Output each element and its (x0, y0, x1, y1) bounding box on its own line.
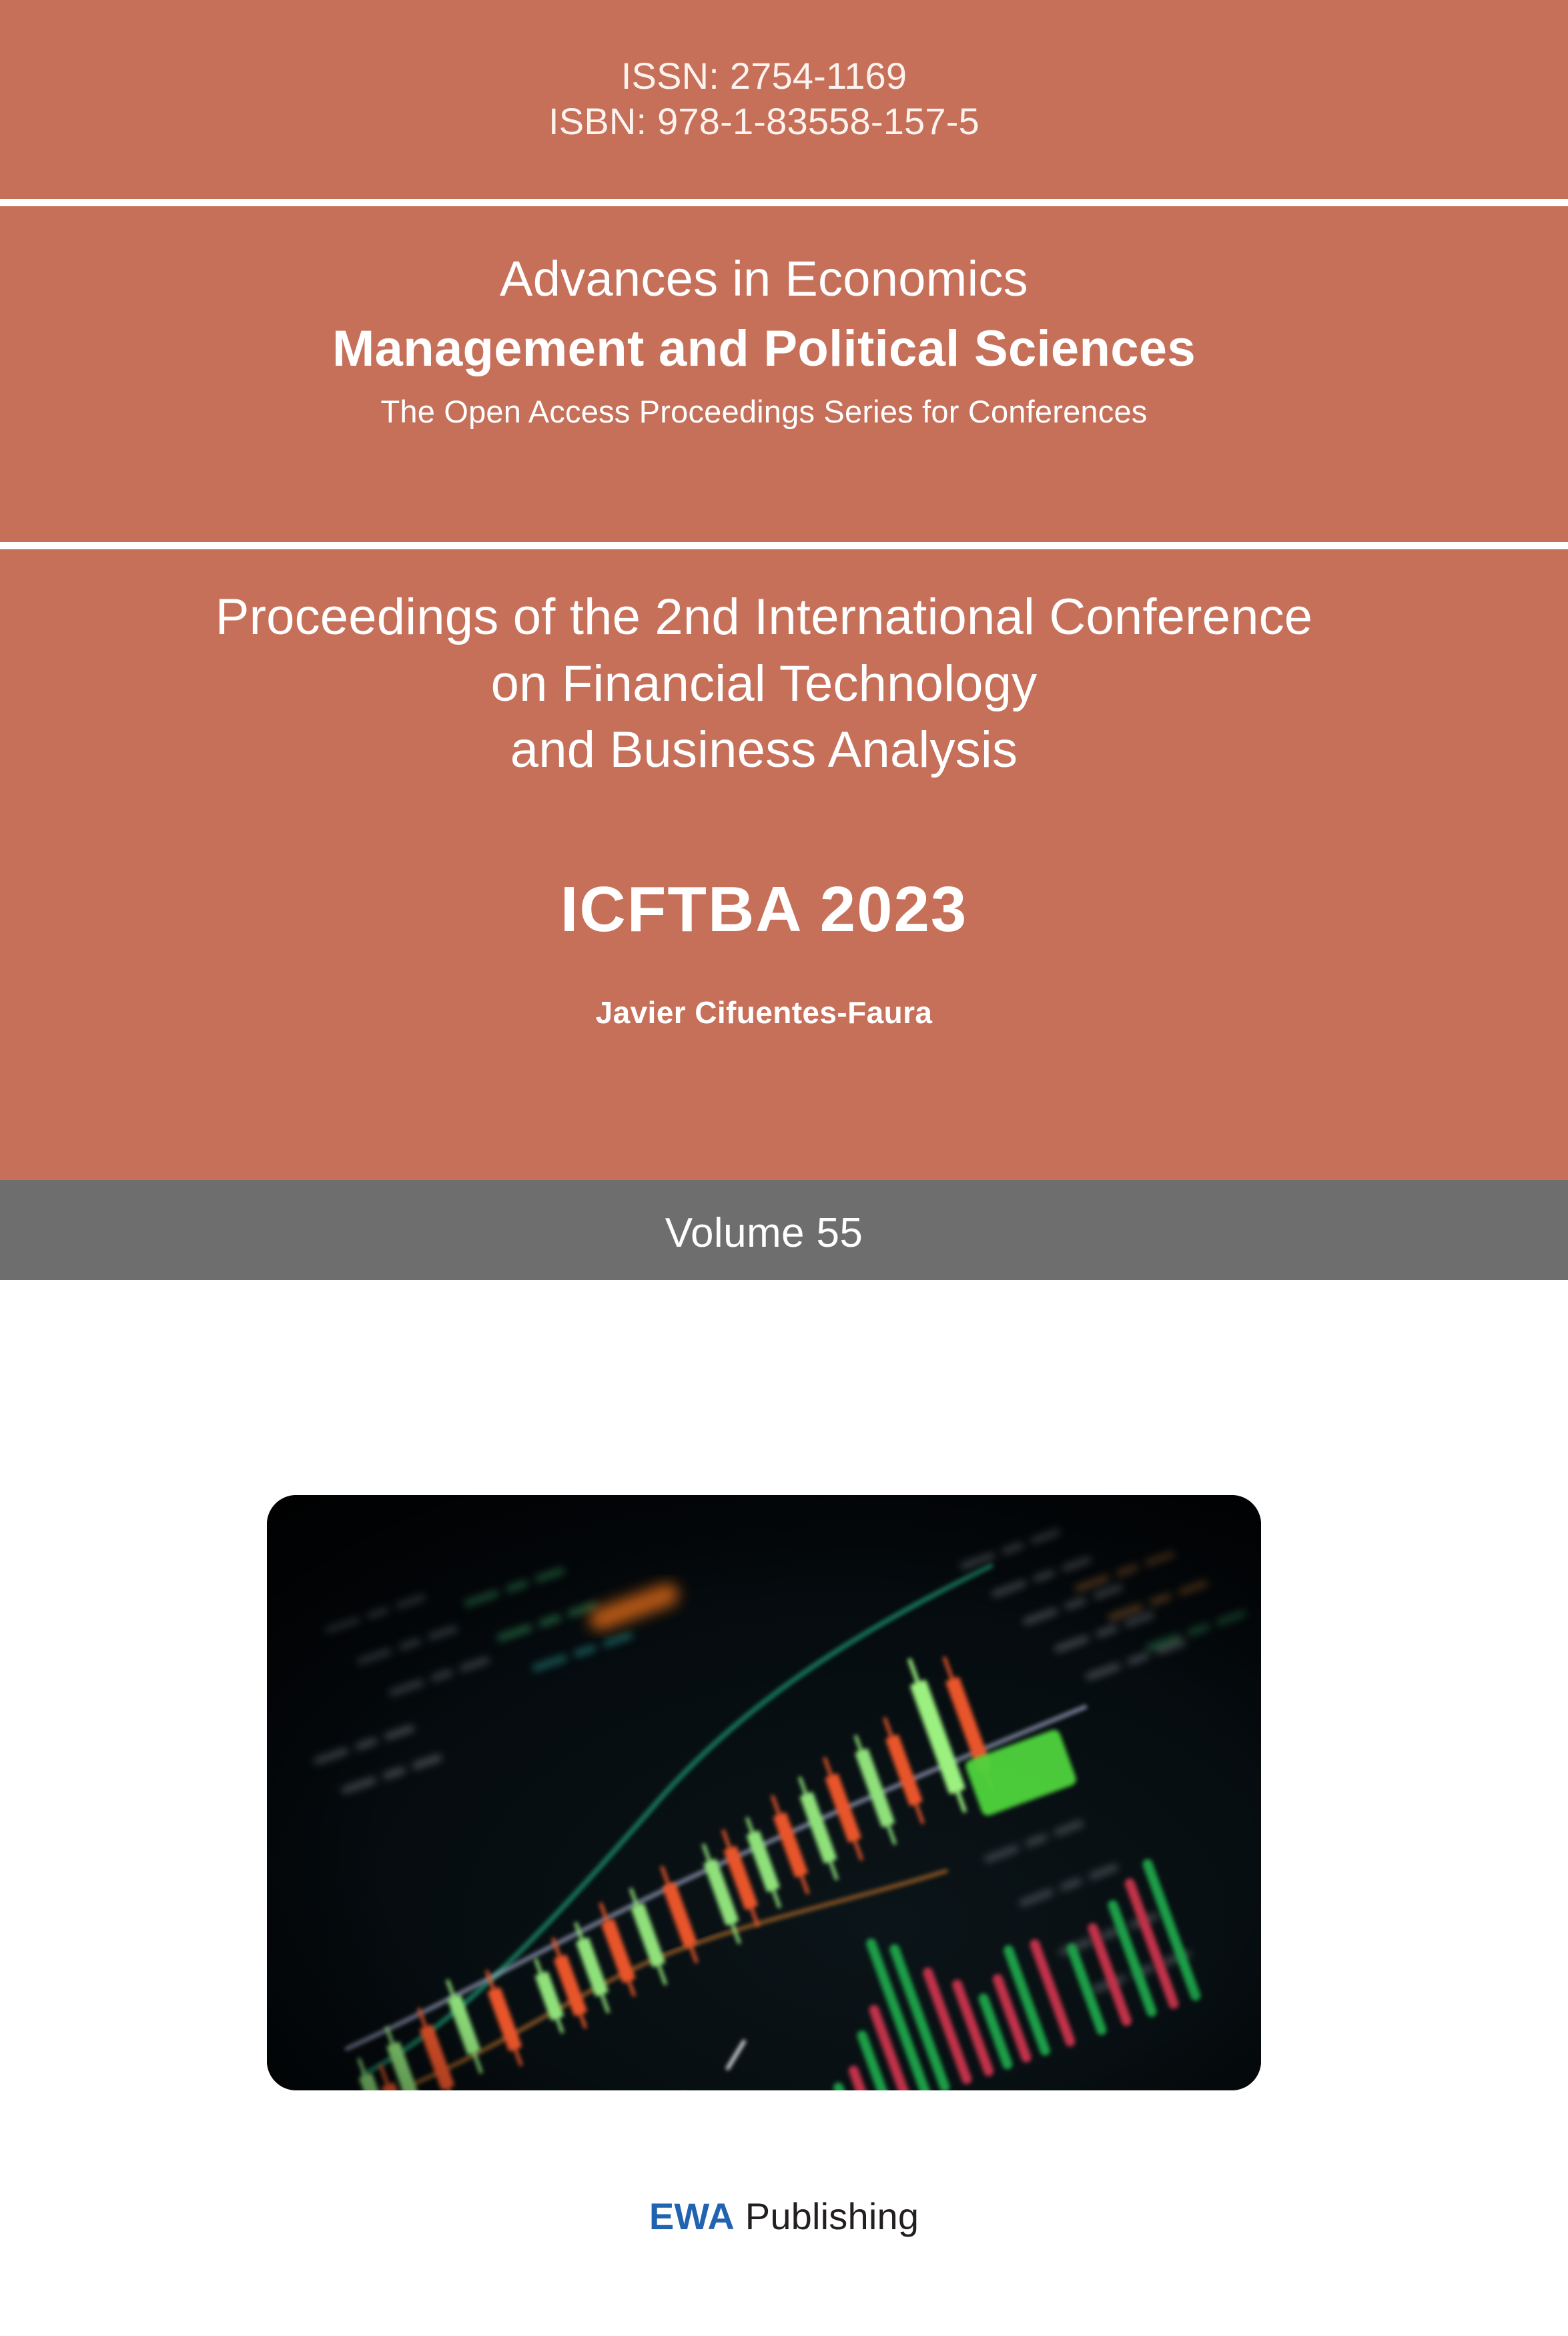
series-title-line-1: Advances in Economics (0, 250, 1528, 308)
banner-divider-top (0, 199, 1568, 206)
volume-label: Volume 55 (0, 1209, 1528, 1257)
book-cover: ISSN: 2754-1169 ISBN: 978-1-83558-157-5 … (0, 0, 1568, 2336)
banner-divider-bottom (0, 542, 1568, 549)
trading-chart-illustration: 3.226 (267, 1495, 1261, 2090)
identifiers-block: ISSN: 2754-1169 ISBN: 978-1-83558-157-5 (0, 53, 1528, 145)
issn-text: ISSN: 2754-1169 (0, 53, 1528, 99)
publisher-logo: EWA Publishing (0, 2195, 1568, 2238)
proceedings-title: Proceedings of the 2nd International Con… (0, 584, 1528, 784)
conference-acronym: ICFTBA 2023 (0, 873, 1528, 946)
publisher-brand: EWA (649, 2195, 735, 2237)
proceedings-title-line-2: on Financial Technology (0, 651, 1528, 717)
isbn-text: ISBN: 978-1-83558-157-5 (0, 99, 1528, 144)
editor-name: Javier Cifuentes-Faura (0, 994, 1528, 1031)
proceedings-title-line-3: and Business Analysis (0, 717, 1528, 784)
proceedings-title-line-1: Proceedings of the 2nd International Con… (0, 584, 1528, 651)
series-tagline: The Open Access Proceedings Series for C… (0, 393, 1528, 430)
series-title-line-2: Management and Political Sciences (0, 320, 1528, 378)
cover-photo: 3.226 (267, 1495, 1261, 2090)
series-block: Advances in Economics Management and Pol… (0, 250, 1528, 430)
publisher-word: Publishing (745, 2195, 919, 2237)
